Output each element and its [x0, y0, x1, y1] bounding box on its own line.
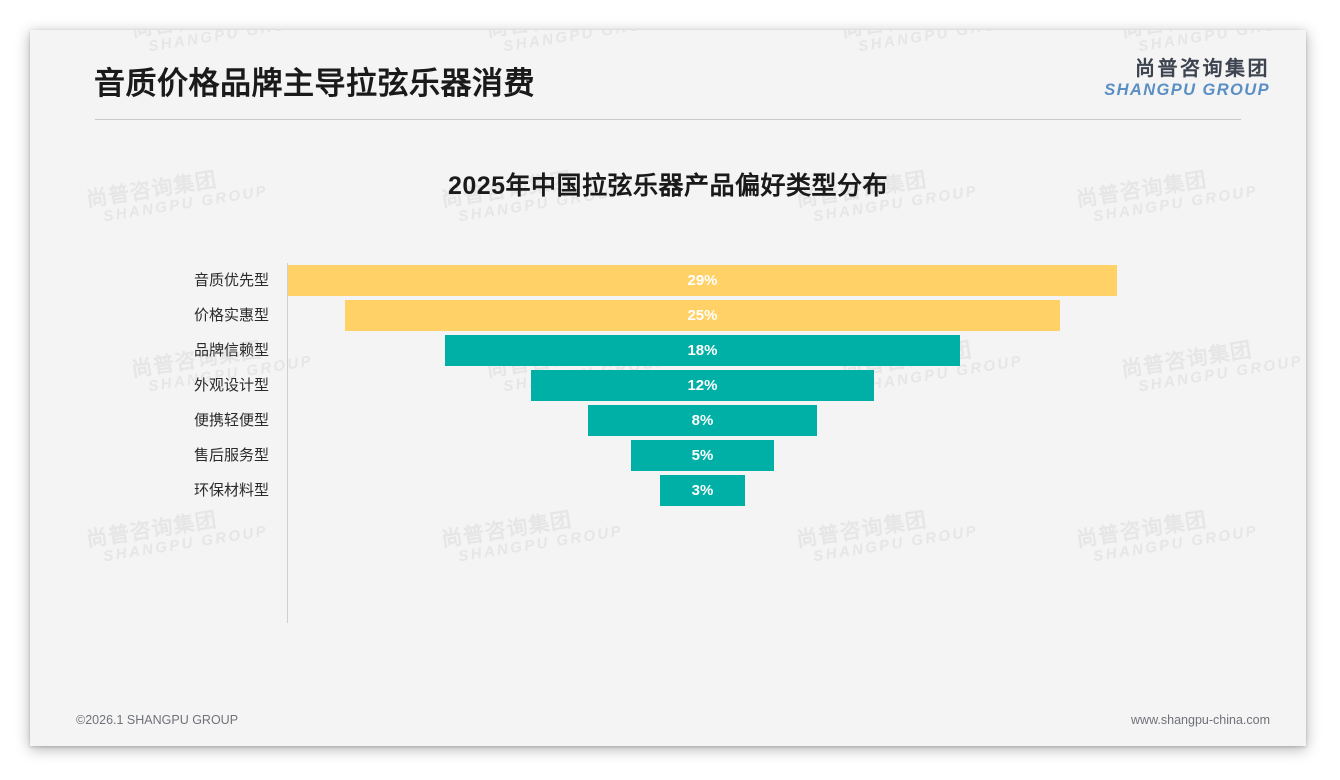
chart-bar-track: 3%: [288, 473, 1306, 508]
chart-bar-rows: 音质优先型29%价格实惠型25%品牌信赖型18%外观设计型12%便携轻便型8%售…: [30, 263, 1306, 508]
slide-root: 尚普咨询集团SHANGPU GROUP尚普咨询集团SHANGPU GROUP尚普…: [0, 0, 1340, 780]
chart-category-label: 价格实惠型: [30, 298, 279, 333]
header-divider: [95, 119, 1241, 120]
chart-title: 2025年中国拉弦乐器产品偏好类型分布: [30, 166, 1306, 202]
chart-category-label: 外观设计型: [30, 368, 279, 403]
chart-category-label: 售后服务型: [30, 438, 279, 473]
chart-bar[interactable]: 8%: [588, 405, 817, 436]
chart-bar-row: 品牌信赖型18%: [30, 333, 1306, 368]
chart-category-label: 便携轻便型: [30, 403, 279, 438]
chart-bar[interactable]: 5%: [631, 440, 774, 471]
chart-bar-track: 8%: [288, 403, 1306, 438]
chart-bar-row: 环保材料型3%: [30, 473, 1306, 508]
chart-bar-row: 售后服务型5%: [30, 438, 1306, 473]
funnel-chart: 音质优先型29%价格实惠型25%品牌信赖型18%外观设计型12%便携轻便型8%售…: [30, 230, 1306, 630]
chart-bar[interactable]: 18%: [445, 335, 960, 366]
brand-logo-cn: 尚普咨询集团: [1104, 58, 1270, 81]
page-title: 音质价格品牌主导拉弦乐器消费: [94, 58, 535, 103]
footer-website[interactable]: www.shangpu-china.com: [1131, 713, 1270, 727]
chart-bar[interactable]: 29%: [288, 265, 1117, 296]
chart-category-label: 环保材料型: [30, 473, 279, 508]
chart-bar-row: 外观设计型12%: [30, 368, 1306, 403]
chart-bar-track: 25%: [288, 298, 1306, 333]
chart-bar-row: 价格实惠型25%: [30, 298, 1306, 333]
brand-logo-en: SHANGPU GROUP: [1104, 81, 1270, 100]
chart-bar-track: 5%: [288, 438, 1306, 473]
chart-bar-track: 12%: [288, 368, 1306, 403]
chart-category-label: 音质优先型: [30, 263, 279, 298]
slide-page: 尚普咨询集团SHANGPU GROUP尚普咨询集团SHANGPU GROUP尚普…: [30, 30, 1306, 746]
chart-category-label: 品牌信赖型: [30, 333, 279, 368]
chart-bar-row: 便携轻便型8%: [30, 403, 1306, 438]
slide-header: 音质价格品牌主导拉弦乐器消费 尚普咨询集团 SHANGPU GROUP: [30, 30, 1306, 122]
brand-logo: 尚普咨询集团 SHANGPU GROUP: [1104, 58, 1270, 100]
slide-footer: ©2026.1 SHANGPU GROUP www.shangpu-china.…: [30, 700, 1306, 746]
chart-bar[interactable]: 25%: [345, 300, 1060, 331]
chart-bar[interactable]: 3%: [660, 475, 746, 506]
chart-bar-row: 音质优先型29%: [30, 263, 1306, 298]
chart-bar[interactable]: 12%: [531, 370, 874, 401]
footer-copyright: ©2026.1 SHANGPU GROUP: [76, 713, 238, 727]
chart-bar-track: 18%: [288, 333, 1306, 368]
chart-bar-track: 29%: [288, 263, 1306, 298]
